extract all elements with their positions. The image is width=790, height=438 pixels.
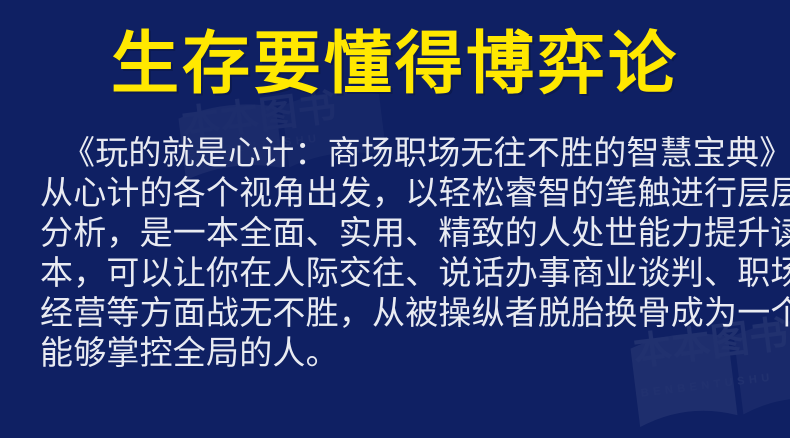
promo-banner: 本本图书 BENBENTUSHU 生存要懂得博弈论 《玩的就是心计：商场职场无往… bbox=[0, 0, 790, 438]
description-line: 经营等方面战无不胜，从被操纵者脱胎换骨成为一个 bbox=[40, 293, 762, 333]
description-block: 《玩的就是心计：商场职场无往不胜的智慧宝典》 从心计的各个视角出发，以轻松睿智的… bbox=[40, 133, 762, 373]
page-title: 生存要懂得博弈论 bbox=[0, 27, 790, 102]
description-line: 能够掌控全局的人。 bbox=[40, 333, 762, 373]
description-line: 本，可以让你在人际交往、说话办事商业谈判、职场 bbox=[40, 253, 762, 293]
description-line: 《玩的就是心计：商场职场无往不胜的智慧宝典》 bbox=[40, 133, 762, 173]
description-line: 从心计的各个视角出发，以轻松睿智的笔触进行层层 bbox=[40, 173, 762, 213]
watermark-en-label: BENBENTUSHU bbox=[640, 372, 774, 399]
description-line: 分析，是一本全面、实用、精致的人处世能力提升读 bbox=[40, 213, 762, 253]
